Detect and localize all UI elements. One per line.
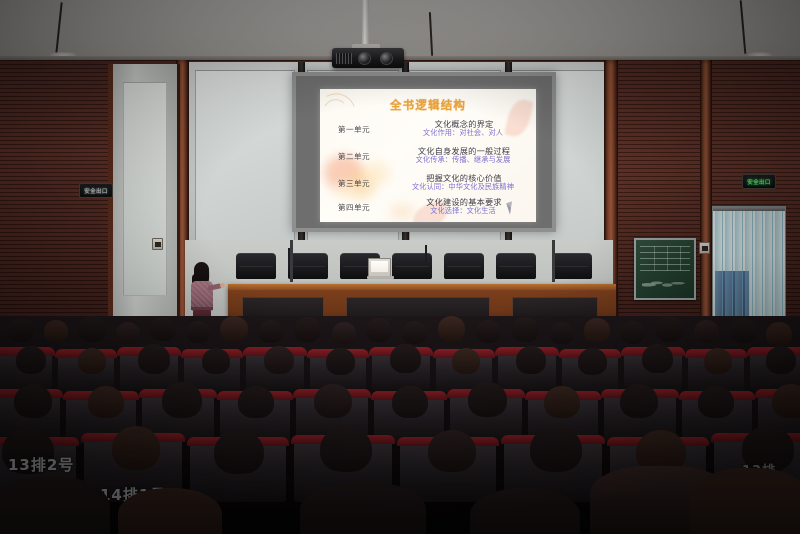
- exit-sign-left: 安全出口: [79, 183, 113, 198]
- chalkboard-rule: [640, 246, 690, 247]
- audience-head: [704, 348, 732, 374]
- pvc-strip-curtain-door[interactable]: [712, 206, 786, 324]
- projector-lens-2: [380, 52, 393, 65]
- presentation-slide: 全书逻辑结构 第一单元 文化概念的界定 文化作用：对社会、对人 第二单元 文化自…: [320, 89, 536, 222]
- chalkboard-column: [667, 246, 668, 271]
- audience-head: [202, 348, 230, 374]
- podium-desktop-surface: [228, 284, 616, 290]
- audience-head: [44, 320, 68, 342]
- audience-head: [766, 322, 792, 346]
- audience-head: [186, 321, 210, 343]
- stage-pole-right: [552, 240, 555, 282]
- audience-head: [428, 430, 476, 472]
- audience-head: [258, 320, 283, 343]
- audience-head: [264, 346, 294, 374]
- audience-head: [772, 384, 800, 418]
- chalkboard-column: [680, 246, 681, 271]
- audience-head: [332, 322, 356, 344]
- laptop-base: [367, 276, 394, 279]
- audience-head: [544, 386, 580, 418]
- chalkboard-rule: [640, 270, 690, 271]
- audience-head: [516, 346, 546, 374]
- left-doorway[interactable]: [108, 64, 180, 322]
- slide-row-unit: 第一单元: [338, 124, 370, 135]
- audience-head: [468, 382, 507, 417]
- curtain-strip: [755, 207, 763, 323]
- audience-head: [530, 426, 582, 472]
- audience-head: [550, 322, 574, 344]
- glass-pane-1: [195, 70, 295, 254]
- audience-head: [698, 386, 734, 418]
- podium-chair: [552, 253, 592, 279]
- podium-chair: [444, 253, 484, 279]
- slide-title: 全书逻辑结构: [320, 97, 536, 113]
- audience-head: [438, 316, 465, 341]
- audience-head: [402, 321, 427, 344]
- audience-head: [138, 344, 170, 374]
- projection-screen: 全书逻辑结构 第一单元 文化概念的界定 文化作用：对社会、对人 第二单元 文化自…: [292, 72, 556, 232]
- audience-head: [78, 348, 106, 374]
- audience-head: [620, 321, 645, 344]
- podium-chair: [288, 253, 328, 279]
- presenter-hand: [220, 283, 225, 288]
- slide-row-unit: 第三单元: [338, 178, 370, 189]
- audience-head: [14, 384, 52, 418]
- audience-head-foreground: [0, 476, 110, 534]
- chalkboard-column: [654, 246, 655, 271]
- audience-head-foreground: [470, 488, 580, 534]
- audience-head: [766, 346, 796, 374]
- laptop-screen: [371, 261, 388, 272]
- chalkboard-rule: [640, 252, 690, 253]
- audience-head: [452, 348, 480, 374]
- podium-laptop[interactable]: [368, 258, 391, 277]
- audience-head-foreground: [690, 468, 800, 534]
- wood-pilaster-far-right: [700, 60, 712, 322]
- curtain-rail: [713, 207, 785, 211]
- audience-head: [578, 348, 607, 375]
- slide-row-unit: 第二单元: [338, 151, 370, 162]
- slide-row-unit: 第四单元: [338, 202, 370, 213]
- audience-head: [162, 382, 202, 418]
- slide-row-sub: 文化传承：传播、继承与发展: [392, 155, 534, 165]
- audience-head: [214, 430, 264, 474]
- slide-row: 第四单元 文化建设的基本要求 文化选择：文化生活: [320, 195, 536, 221]
- curtain-strip: [775, 207, 783, 323]
- audience-head: [78, 316, 106, 342]
- audience-head: [584, 318, 610, 342]
- audience-head: [642, 344, 673, 373]
- exit-sign-right: 安全出口: [742, 174, 776, 189]
- audience-head: [730, 318, 757, 343]
- green-chalkboard: [634, 238, 696, 300]
- slide-row: 第一单元 文化概念的界定 文化作用：对社会、对人: [320, 117, 536, 143]
- podium-microphone: [425, 245, 427, 263]
- chalkboard-rule: [640, 258, 690, 259]
- audience-head: [366, 318, 392, 342]
- curtain-strip: [735, 207, 743, 323]
- podium-chair: [236, 253, 276, 279]
- projector-lens-1: [358, 52, 371, 65]
- slide-row: 第二单元 文化自身发展的一般过程 文化传承：传播、继承与发展: [320, 144, 536, 170]
- exit-sign-left-label: 安全出口: [84, 187, 108, 195]
- audience-head: [88, 386, 124, 418]
- audience-head: [512, 317, 539, 342]
- audience-head: [476, 320, 501, 343]
- audience-head: [8, 318, 34, 342]
- projector-mount-pole: [362, 0, 369, 46]
- curtain-strip: [725, 207, 733, 323]
- projector-vent: [336, 53, 352, 64]
- audience-head: [150, 317, 176, 341]
- curtain-strip: [765, 207, 773, 323]
- wall-socket-left[interactable]: [152, 238, 163, 250]
- audience-head: [314, 384, 352, 418]
- audience-head: [294, 317, 321, 342]
- audience-head: [656, 316, 684, 342]
- stage-pole-left: [290, 240, 293, 282]
- seat-label-13-2: 13排2号: [8, 454, 74, 475]
- podium-chair: [496, 253, 536, 279]
- left-door-glass: [123, 82, 167, 296]
- slide-row: 第三单元 把握文化的核心价值 文化认同：中华文化及民族精神: [320, 171, 536, 197]
- audience-head: [238, 386, 274, 418]
- slide-row-sub: 文化认同：中华文化及民族精神: [392, 182, 534, 192]
- audience-head: [112, 426, 160, 470]
- audience-head: [620, 384, 658, 418]
- audience-head-foreground: [118, 488, 222, 534]
- slide-row-sub: 文化作用：对社会、对人: [392, 128, 534, 138]
- ceiling-projector: [332, 48, 404, 68]
- curtain-strip: [715, 207, 723, 323]
- audience-head: [390, 344, 421, 373]
- audience-head: [694, 320, 719, 343]
- curtain-strip: [745, 207, 753, 323]
- audience-area: 13排2号 14排1号 13排: [0, 316, 800, 534]
- audience-head: [16, 346, 46, 374]
- audience-head: [220, 316, 248, 341]
- exit-sign-right-label: 安全出口: [747, 178, 771, 186]
- audience-head: [392, 386, 428, 418]
- presenter: [186, 262, 220, 324]
- chalkboard-handwriting: [642, 277, 688, 290]
- wall-socket-right[interactable]: [699, 242, 710, 254]
- audience-head: [116, 322, 140, 344]
- chalkboard-rule: [640, 264, 690, 265]
- audience-head-foreground: [300, 482, 426, 534]
- audience-head: [320, 426, 372, 472]
- screen-surface: 全书逻辑结构 第一单元 文化概念的界定 文化作用：对社会、对人 第二单元 文化自…: [296, 76, 552, 228]
- audience-head: [326, 348, 355, 375]
- lecture-hall-photo: 全书逻辑结构 第一单元 文化概念的界定 文化作用：对社会、对人 第二单元 文化自…: [0, 0, 800, 534]
